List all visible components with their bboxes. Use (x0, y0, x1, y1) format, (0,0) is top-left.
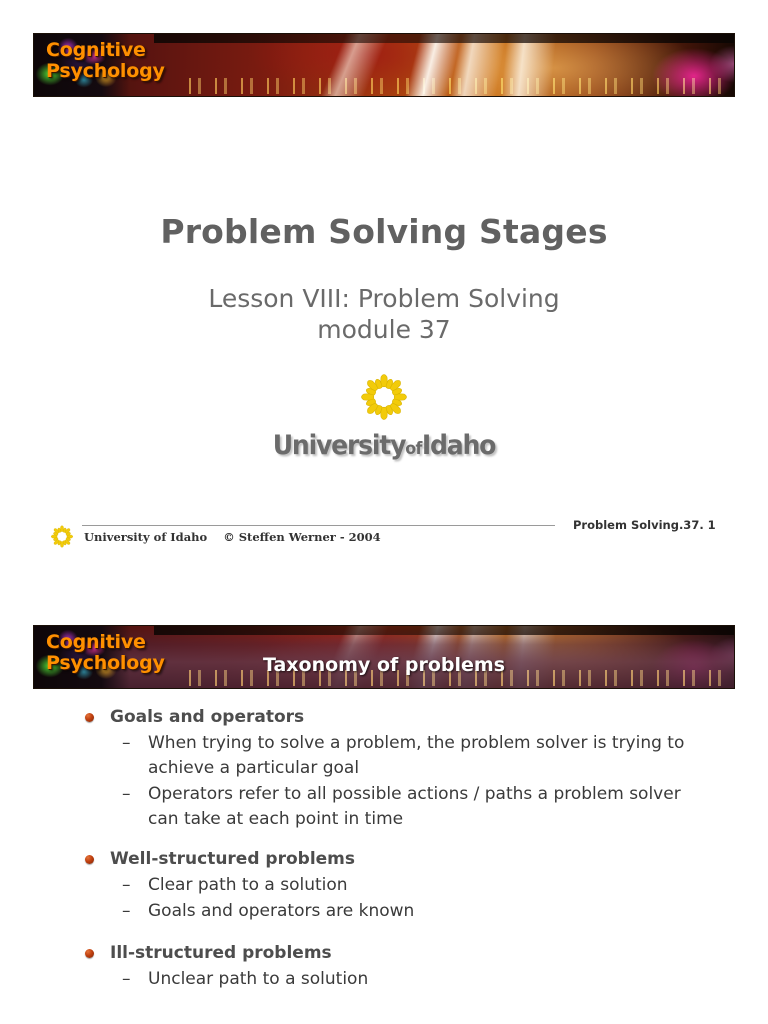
bullet-dot-icon (85, 713, 94, 722)
slide-taxonomy-of-problems: Cognitive Psychology Taxonomy of problem… (0, 592, 768, 1024)
dash-icon: – (122, 782, 131, 807)
slide-banner-header: Cognitive Psychology (33, 33, 735, 97)
bullet-level2-text: Clear path to a solution (148, 875, 348, 895)
bullet-dot-icon (85, 949, 94, 958)
slide-footer: University of Idaho © Steffen Werner - 2… (0, 515, 768, 555)
bullet-level2: – Goals and operators are known (120, 899, 708, 924)
bullet-level1: Goals and operators (84, 704, 768, 730)
bullet-group-ill-structured-problems: Ill-structured problems – Unclear path t… (0, 940, 768, 992)
page-title: Problem Solving Stages (0, 212, 768, 251)
slide-title-page: Cognitive Psychology Problem Solving Sta… (0, 0, 768, 592)
bullet-dot-icon (85, 855, 94, 864)
wordmark-university: University (273, 430, 405, 461)
bullet-level1: Well-structured problems (84, 846, 768, 872)
footer-divider (82, 525, 555, 526)
footer-slide-number: Problem Solving.37. 1 (573, 518, 716, 532)
banner-top-strip (154, 34, 734, 43)
wordmark-of: of (405, 439, 422, 459)
dash-icon: – (122, 873, 131, 898)
banner-tick-pattern (184, 78, 726, 94)
course-title-line1: Cognitive (46, 631, 146, 653)
bullet-level1-label: Goals and operators (110, 707, 304, 727)
bullet-group-goals-and-operators: Goals and operators – When trying to sol… (0, 704, 768, 832)
dash-icon: – (122, 967, 131, 992)
wordmark-idaho: Idaho (422, 430, 495, 461)
university-of-idaho-starburst-icon (355, 370, 413, 426)
bullet-level2-text: Operators refer to all possible actions … (148, 784, 681, 829)
university-logo: UniversityofIdaho (0, 370, 768, 461)
bullet-level1-label: Well-structured problems (110, 849, 355, 869)
bullet-level2: – Unclear path to a solution (120, 967, 708, 992)
dash-icon: – (122, 731, 131, 756)
bullet-level2-text: Goals and operators are known (148, 901, 414, 921)
subtitle-line-1: Lesson VIII: Problem Solving (0, 283, 768, 314)
banner-top-strip (154, 626, 734, 635)
slide-body-content: Goals and operators – When trying to sol… (0, 704, 768, 1006)
bullet-level2: – When trying to solve a problem, the pr… (120, 731, 708, 781)
dash-icon: – (122, 899, 131, 924)
course-title-banner: Cognitive Psychology (46, 40, 165, 82)
bullet-level2: – Clear path to a solution (120, 873, 708, 898)
bullet-level2-text: When trying to solve a problem, the prob… (148, 733, 684, 778)
subtitle-line-2: module 37 (0, 314, 768, 345)
page-subtitle: Lesson VIII: Problem Solving module 37 (0, 283, 768, 345)
footer-starburst-icon (48, 523, 76, 551)
course-title-line2: Psychology (46, 60, 165, 82)
slide-banner-header: Cognitive Psychology Taxonomy of problem… (33, 625, 735, 689)
bullet-level2-text: Unclear path to a solution (148, 969, 368, 989)
bullet-group-well-structured-problems: Well-structured problems – Clear path to… (0, 846, 768, 924)
bullet-level1-label: Ill-structured problems (110, 943, 332, 963)
bullet-level1: Ill-structured problems (84, 940, 768, 966)
bullet-level2: – Operators refer to all possible action… (120, 782, 708, 832)
footer-copyright: University of Idaho © Steffen Werner - 2… (84, 530, 381, 544)
course-title-line1: Cognitive (46, 39, 146, 61)
university-wordmark: UniversityofIdaho (27, 430, 741, 461)
slide-heading: Taxonomy of problems (34, 654, 734, 676)
